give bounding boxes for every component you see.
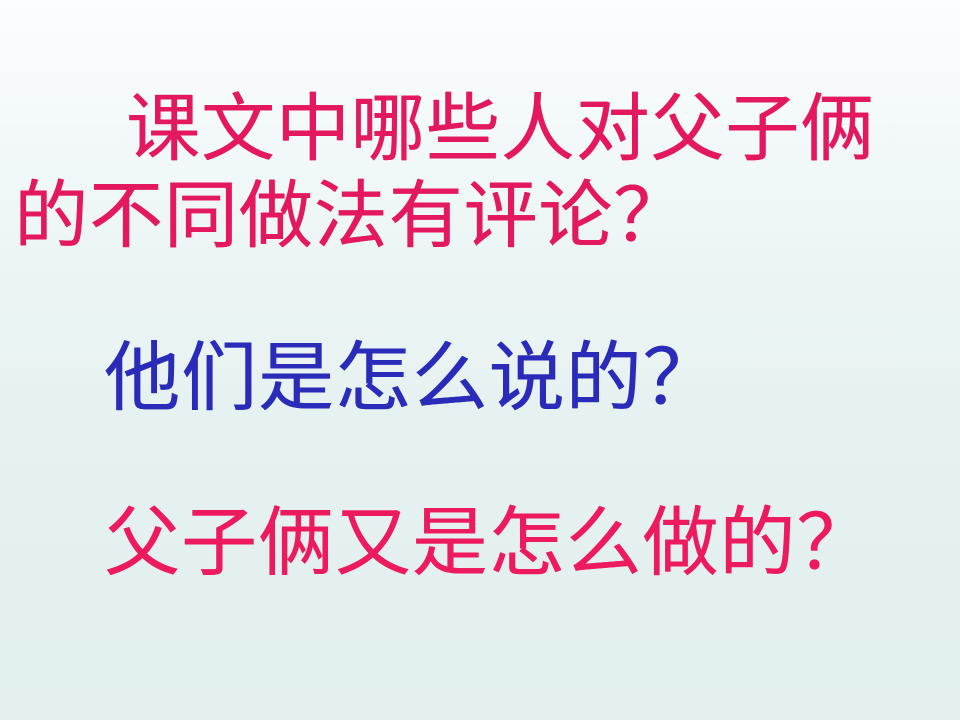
question-text-1: 课文中哪些人对父子俩的不同做法有评论？ [0,86,960,261]
question-text-3: 父子俩又是怎么做的？ [0,500,960,585]
slide-canvas: 课文中哪些人对父子俩的不同做法有评论？ 他们是怎么说的？ 父子俩又是怎么做的？ [0,0,960,720]
question-text-2: 他们是怎么说的？ [0,335,960,420]
